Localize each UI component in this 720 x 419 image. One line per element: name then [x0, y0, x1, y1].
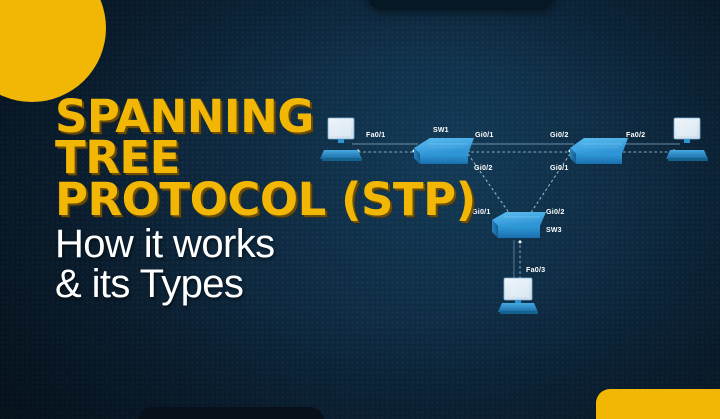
top-bar-decoration [368, 0, 554, 10]
pc-keyboard [498, 303, 538, 312]
corner-block-decoration [596, 389, 720, 419]
device-sw2[interactable] [570, 138, 628, 164]
bottom-bar-decoration [138, 407, 324, 419]
pc-monitor-glare [677, 121, 697, 136]
label-gi0-2-sw1: Gi0/2 [474, 163, 493, 172]
pc-base [668, 158, 708, 161]
title-line-3: PROTOCOL (STP) [55, 179, 475, 220]
device-pc-right[interactable] [666, 118, 708, 161]
sw2-front-face [576, 154, 622, 164]
link-endpoint-dot [519, 241, 522, 244]
device-pc-bottom[interactable] [498, 278, 538, 314]
label-sw3: SW3 [546, 227, 562, 234]
pc-monitor-stand [684, 139, 690, 143]
sw2-top-face [570, 138, 628, 154]
pc-monitor-stand [515, 300, 521, 303]
device-sw3[interactable] [492, 212, 546, 238]
label-fa0-2: Fa0/2 [626, 130, 645, 139]
label-gi0-2-sw3: Gi0/2 [546, 207, 565, 216]
label-gi0-2-sw2: Gi0/2 [550, 130, 569, 139]
sw3-front-face [498, 226, 540, 238]
corner-circle-decoration [0, 0, 106, 102]
label-fa0-3: Fa0/3 [526, 265, 545, 274]
poster-canvas: SPANNING TREE PROTOCOL (STP) How it work… [0, 0, 720, 419]
subtitle-line-1: How it works [55, 224, 475, 264]
label-gi0-1-sw2: Gi0/1 [550, 163, 569, 172]
pc-monitor-glare [507, 281, 529, 297]
pc-base [500, 311, 538, 314]
subtitle-line-2: & its Types [55, 264, 475, 304]
pc-keyboard [666, 150, 708, 159]
sw3-top-face [492, 212, 546, 226]
headline-block: SPANNING TREE PROTOCOL (STP) How it work… [55, 96, 475, 304]
label-gi0-1-sw1: Gi0/1 [475, 130, 494, 139]
